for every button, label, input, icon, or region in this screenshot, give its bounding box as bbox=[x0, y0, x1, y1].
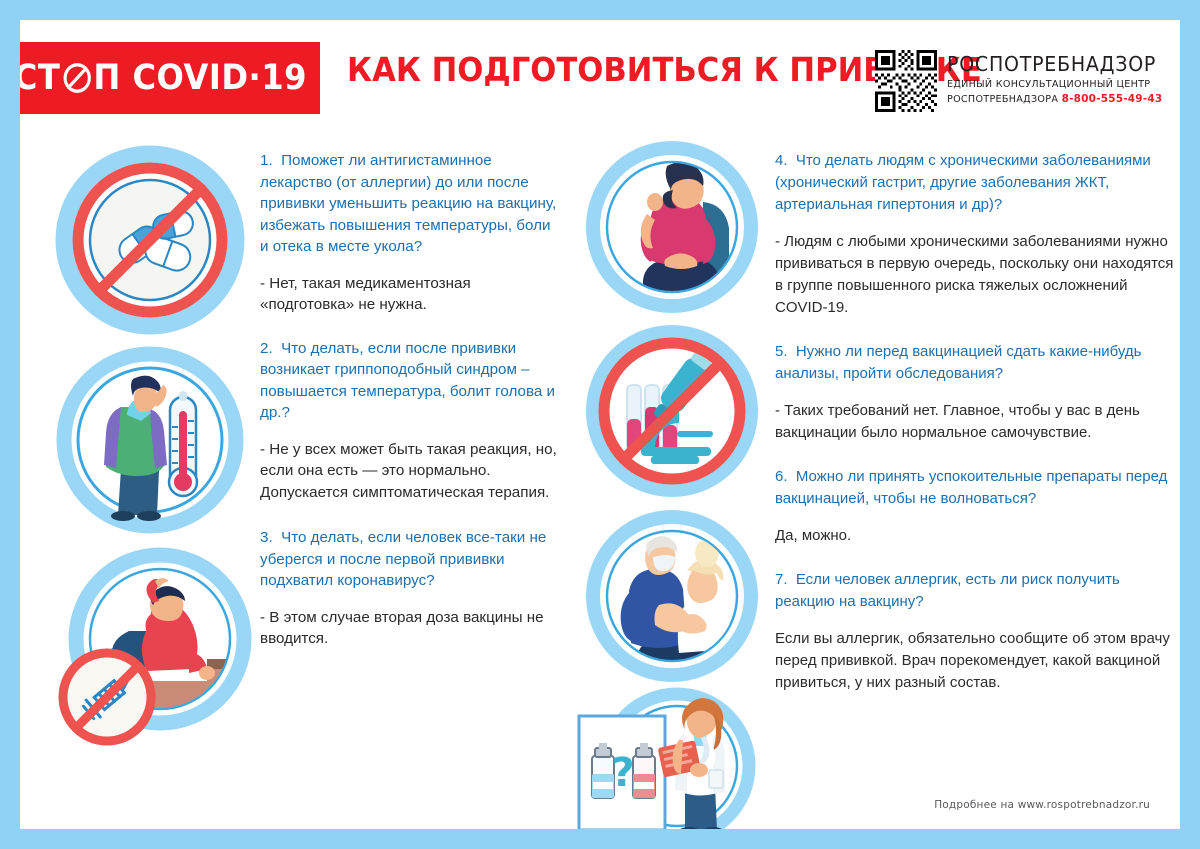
answer-7: Если вы аллергик, обязательно сообщите о… bbox=[775, 628, 1175, 694]
qr-code-icon[interactable] bbox=[875, 50, 937, 112]
hotline-phone[interactable]: 8-800-555-49-43 bbox=[1062, 93, 1163, 105]
poster-root: СТ bbox=[0, 0, 1200, 849]
right-text-column: 4. Что делать людям с хроническими забол… bbox=[775, 150, 1175, 716]
question-5: 5. Нужно ли перед вакцинацией сдать каки… bbox=[775, 341, 1175, 385]
left-text-column: 1. Поможет ли антигистаминное лекарство … bbox=[260, 150, 560, 672]
stop-label-part1: СТ bbox=[20, 58, 60, 98]
answer-6: Да, можно. bbox=[775, 525, 1175, 547]
no-pills-icon bbox=[55, 145, 260, 335]
poster-content: 1. Поможет ли антигистаминное лекарство … bbox=[20, 130, 1180, 829]
qa-block-4: 4. Что делать людям с хроническими забол… bbox=[775, 150, 1175, 319]
question-3: 3. Что делать, если человек все-таки не … bbox=[260, 527, 560, 592]
footer-website-note[interactable]: Подробнее на www.rospotrebnadzor.ru bbox=[934, 799, 1150, 811]
qa-block-6: 6. Можно ли принять успокоительные препа… bbox=[775, 466, 1175, 547]
stop-covid-banner: СТ bbox=[20, 42, 320, 114]
question-4: 4. Что делать людям с хроническими забол… bbox=[775, 150, 1175, 216]
poster-page: СТ bbox=[20, 20, 1180, 829]
middle-illustration-column: ? bbox=[585, 140, 775, 829]
consultation-center-line: ЕДИНЫЙ КОНСУЛЬТАЦИОННЫЙ ЦЕНТР bbox=[947, 79, 1167, 90]
man-stomach-pain-icon bbox=[585, 140, 775, 315]
answer-5: - Таких требований нет. Главное, чтобы у… bbox=[775, 400, 1175, 444]
question-7: 7. Если человек аллергик, есть ли риск п… bbox=[775, 569, 1175, 613]
answer-2: - Не у всех может быть такая реакция, но… bbox=[260, 439, 560, 504]
left-illustration-column bbox=[55, 145, 260, 757]
question-2: 2. Что делать, если после прививки возни… bbox=[260, 338, 560, 424]
virus-crossed-icon bbox=[61, 61, 92, 95]
rospotrebnadzor-phone-line: РОСПОТРЕБНАДЗОРА 8-800-555-49-43 bbox=[947, 93, 1167, 105]
stop-label-part2: П COVID·19 bbox=[93, 58, 307, 98]
man-with-thermometer-icon bbox=[55, 345, 260, 535]
qa-block-2: 2. Что делать, если после прививки возни… bbox=[260, 338, 560, 504]
elderly-couple-icon bbox=[585, 509, 775, 684]
rospotrebnadzor-block: РОСПОТРЕБНАДЗОР ЕДИНЫЙ КОНСУЛЬТАЦИОННЫЙ … bbox=[875, 50, 1167, 112]
rospotrebnadzora-label: РОСПОТРЕБНАДЗОРА bbox=[947, 94, 1058, 105]
sick-man-in-bed-no-syringe-icon bbox=[55, 547, 260, 747]
stop-covid-label: СТ bbox=[20, 58, 307, 98]
question-1: 1. Поможет ли антигистаминное лекарство … bbox=[260, 150, 560, 258]
answer-3: - В этом случае вторая доза вакцины не в… bbox=[260, 607, 560, 650]
qa-block-1: 1. Поможет ли антигистаминное лекарство … bbox=[260, 150, 560, 316]
rospotrebnadzor-texts: РОСПОТРЕБНАДЗОР ЕДИНЫЙ КОНСУЛЬТАЦИОННЫЙ … bbox=[947, 50, 1167, 105]
doctor-vaccine-choice-icon: ? bbox=[557, 678, 775, 829]
rospotrebnadzor-title: РОСПОТРЕБНАДЗОР bbox=[947, 52, 1156, 76]
qa-block-7: 7. Если человек аллергик, есть ли риск п… bbox=[775, 569, 1175, 694]
no-microscope-tests-icon bbox=[585, 321, 775, 501]
poster-header: СТ bbox=[20, 42, 1180, 124]
answer-1: - Нет, такая медикаментозная «подготовка… bbox=[260, 273, 560, 316]
qa-block-5: 5. Нужно ли перед вакцинацией сдать каки… bbox=[775, 341, 1175, 444]
svg-text:?: ? bbox=[611, 750, 634, 796]
answer-4: - Людям с любыми хроническими заболевани… bbox=[775, 231, 1175, 319]
question-6: 6. Можно ли принять успокоительные препа… bbox=[775, 466, 1175, 510]
qa-block-3: 3. Что делать, если человек все-таки не … bbox=[260, 527, 560, 650]
